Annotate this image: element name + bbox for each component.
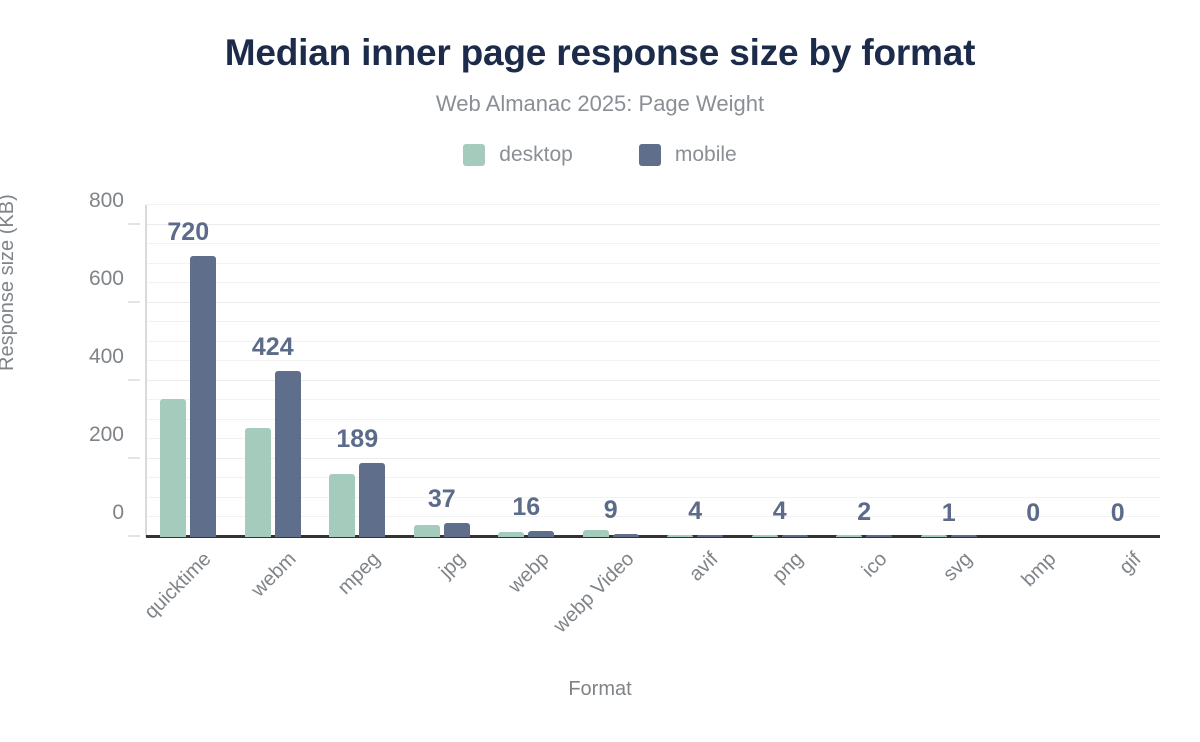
y-axis-tick-label: 0 <box>112 501 124 525</box>
y-axis-tick-label: 200 <box>89 423 124 447</box>
bar-desktop-ico[interactable] <box>836 535 862 537</box>
x-axis-tick-label: webp <box>504 548 554 598</box>
bar-mobile-mpeg[interactable] <box>359 463 385 537</box>
bar-mobile-webp[interactable] <box>528 531 554 537</box>
bar-group-quicktime: 720 <box>146 205 231 537</box>
y-axis-tick-mark <box>128 379 140 380</box>
bar-value-label: 4 <box>688 497 702 526</box>
legend-swatch-icon <box>639 144 661 166</box>
bar-group-webm: 424 <box>231 205 316 537</box>
bar-value-label: 16 <box>512 493 540 522</box>
bar-group-gif: 0 <box>1076 205 1161 537</box>
bar-desktop-mpeg[interactable] <box>329 474 355 537</box>
bar-value-label: 9 <box>604 496 618 525</box>
y-axis-tick-mark <box>128 536 140 537</box>
bar-mobile-svg[interactable] <box>951 535 977 537</box>
y-axis-tick-mark <box>128 457 140 458</box>
bar-desktop-webp-Video[interactable] <box>583 530 609 537</box>
bar-mobile-png[interactable] <box>782 535 808 537</box>
legend-item-mobile[interactable]: mobile <box>639 143 737 167</box>
bar-value-label: 189 <box>336 425 378 454</box>
y-axis-title: Response size (KB) <box>0 194 19 371</box>
bar-group-mpeg: 189 <box>315 205 400 537</box>
bar-group-webp-Video: 9 <box>569 205 654 537</box>
bar-mobile-avif[interactable] <box>697 535 723 537</box>
x-axis-tick-label: jpg <box>435 548 470 583</box>
x-axis-tick-label: webp Video <box>549 548 639 638</box>
x-axis-tick-label: ico <box>858 548 892 582</box>
x-axis-tick-label: avif <box>685 548 723 586</box>
bar-group-ico: 2 <box>822 205 907 537</box>
x-axis-tick-label: webm <box>247 548 301 602</box>
bar-value-label: 0 <box>1026 499 1040 528</box>
y-axis-tick-label: 800 <box>89 189 124 213</box>
bar-value-label: 4 <box>773 497 787 526</box>
bar-group-bmp: 0 <box>991 205 1076 537</box>
x-axis-tick-label: png <box>768 548 808 588</box>
bar-desktop-quicktime[interactable] <box>160 399 186 537</box>
x-axis-tick-label: mpeg <box>334 548 386 600</box>
bar-group-svg: 1 <box>907 205 992 537</box>
x-axis-tick-label: gif <box>1115 548 1146 579</box>
bar-value-label: 720 <box>167 218 209 247</box>
chart-title: Median inner page response size by forma… <box>0 33 1200 74</box>
bar-mobile-quicktime[interactable] <box>190 256 216 537</box>
bar-value-label: 424 <box>252 333 294 362</box>
chart-subtitle: Web Almanac 2025: Page Weight <box>0 91 1200 117</box>
x-axis-title: Format <box>0 678 1200 701</box>
x-axis-tick-label: bmp <box>1018 548 1062 592</box>
legend-swatch-icon <box>463 144 485 166</box>
chart-container: Median inner page response size by forma… <box>0 0 1200 742</box>
y-axis-tick-mark <box>128 301 140 302</box>
bar-value-label: 2 <box>857 498 871 527</box>
bar-mobile-ico[interactable] <box>866 535 892 537</box>
plot-area: 0200400600800 72042418937169442100 <box>146 205 1160 537</box>
legend-label: desktop <box>499 143 573 167</box>
x-axis-tick-label: svg <box>939 548 977 586</box>
legend-item-desktop[interactable]: desktop <box>463 143 573 167</box>
bar-value-label: 37 <box>428 485 456 514</box>
bar-group-avif: 4 <box>653 205 738 537</box>
bar-value-label: 1 <box>942 499 956 528</box>
bar-desktop-svg[interactable] <box>921 535 947 537</box>
bar-value-label: 0 <box>1111 499 1125 528</box>
y-axis-tick-label: 600 <box>89 267 124 291</box>
bar-mobile-jpg[interactable] <box>444 523 470 537</box>
bar-desktop-png[interactable] <box>752 535 778 537</box>
bar-group-jpg: 37 <box>400 205 485 537</box>
chart-legend: desktopmobile <box>0 143 1200 167</box>
x-axis-tick-label: quicktime <box>141 548 217 624</box>
bar-desktop-webm[interactable] <box>245 428 271 537</box>
bar-mobile-webp-Video[interactable] <box>613 534 639 538</box>
y-axis-tick-label: 400 <box>89 345 124 369</box>
legend-label: mobile <box>675 143 737 167</box>
y-axis-tick-mark <box>128 223 140 224</box>
bar-group-png: 4 <box>738 205 823 537</box>
bar-desktop-jpg[interactable] <box>414 525 440 537</box>
bar-desktop-webp[interactable] <box>498 532 524 537</box>
bar-group-webp: 16 <box>484 205 569 537</box>
bar-desktop-avif[interactable] <box>667 535 693 537</box>
bar-mobile-webm[interactable] <box>275 371 301 537</box>
